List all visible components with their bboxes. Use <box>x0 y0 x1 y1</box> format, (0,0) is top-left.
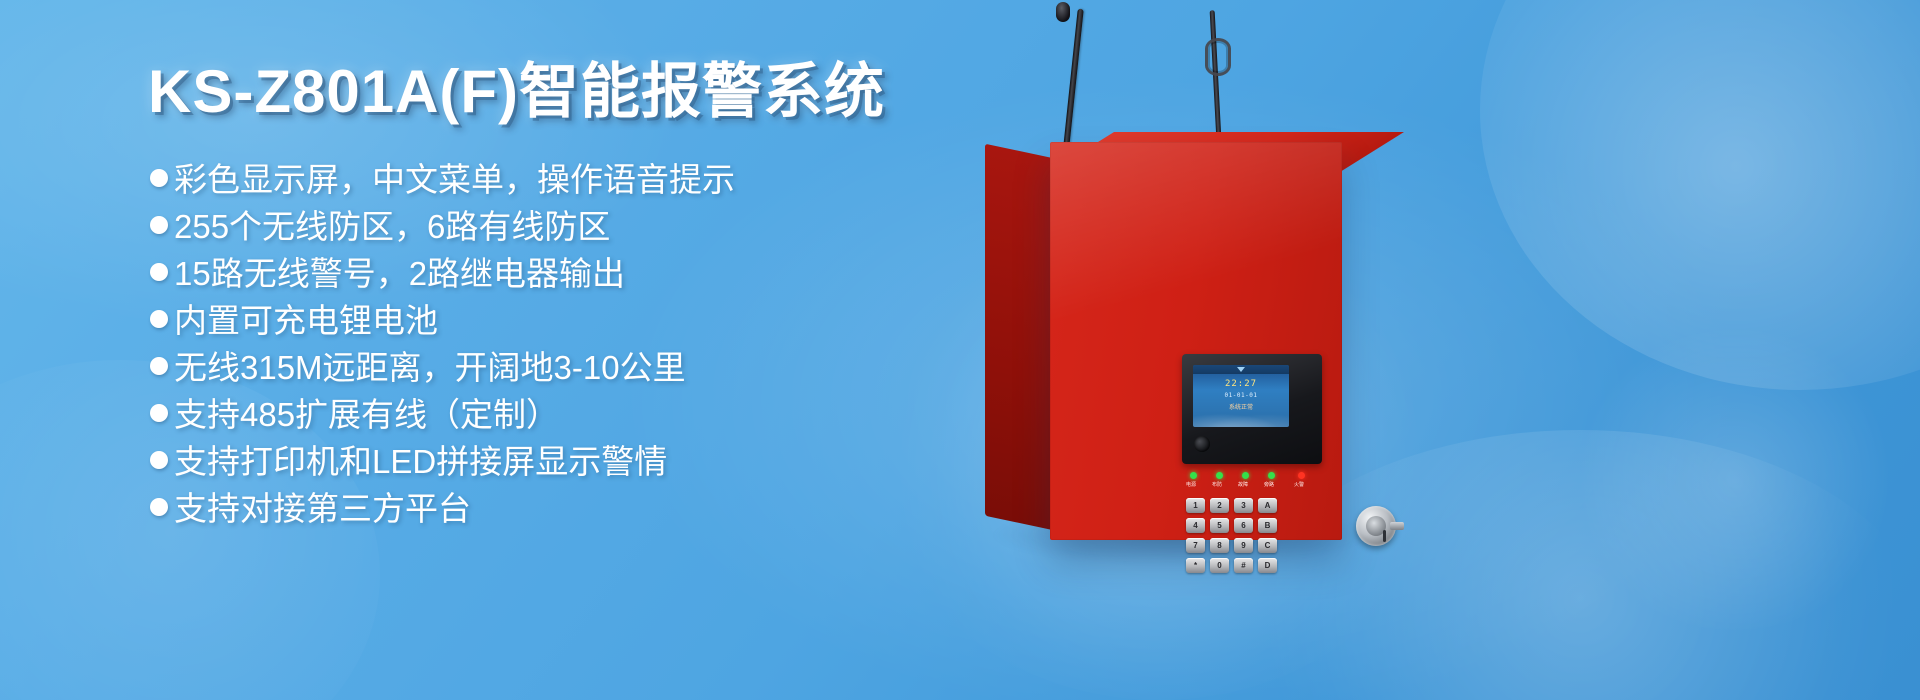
led-fault-label: 故障 <box>1238 481 1248 488</box>
list-item: 支持打印机和LED拼接屏显示警情 <box>150 440 970 487</box>
feature-text: 彩色显示屏，中文菜单，操作语音提示 <box>174 158 735 202</box>
keypad-row: 1 2 3 A <box>1186 498 1316 513</box>
list-item: 内置可充电锂电池 <box>150 299 970 346</box>
key-6[interactable]: 6 <box>1234 518 1253 533</box>
lcd-date: 01-01-01 <box>1193 392 1289 399</box>
lock-keyhole-icon <box>1383 530 1386 542</box>
led-alarm-icon <box>1298 472 1305 479</box>
bullet-dot-icon <box>150 357 168 375</box>
led-bypass-icon <box>1268 472 1275 479</box>
feature-text: 255个无线防区，6路有线防区 <box>174 205 610 249</box>
feature-text: 支持485扩展有线（定制） <box>174 393 559 437</box>
feature-text: 支持对接第三方平台 <box>174 487 471 531</box>
key-9[interactable]: 9 <box>1234 538 1253 553</box>
list-item: 支持对接第三方平台 <box>150 487 970 534</box>
key-d[interactable]: D <box>1258 558 1277 573</box>
key-b[interactable]: B <box>1258 518 1277 533</box>
key-8[interactable]: 8 <box>1210 538 1229 553</box>
antenna-left-tip-icon <box>1056 2 1070 22</box>
key-7[interactable]: 7 <box>1186 538 1205 553</box>
feature-text: 15路无线警号，2路继电器输出 <box>174 252 625 296</box>
page-title: KS-Z801A(F)智能报警系统 <box>148 55 885 129</box>
led-arm-icon <box>1216 472 1223 479</box>
key-hash[interactable]: # <box>1234 558 1253 573</box>
lock-core <box>1366 516 1386 536</box>
bullet-dot-icon <box>150 310 168 328</box>
key-a[interactable]: A <box>1258 498 1277 513</box>
led-arm-label: 布防 <box>1212 481 1222 488</box>
led-bypass-label: 旁路 <box>1264 481 1274 488</box>
bullet-dot-icon <box>150 404 168 422</box>
key-star[interactable]: * <box>1186 558 1205 573</box>
bullet-dot-icon <box>150 216 168 234</box>
keypad-row: 7 8 9 C <box>1186 538 1316 553</box>
product-banner: KS-Z801A(F)智能报警系统 彩色显示屏，中文菜单，操作语音提示 255个… <box>0 0 1920 700</box>
keypad-row: * 0 # D <box>1186 558 1316 573</box>
key-0[interactable]: 0 <box>1210 558 1229 573</box>
signal-icon <box>1237 367 1245 372</box>
lcd-mode: 系统正常 <box>1193 402 1289 411</box>
lcd-time: 22:27 <box>1193 379 1289 389</box>
list-item: 15路无线警号，2路继电器输出 <box>150 252 970 299</box>
lcd-status-bar <box>1193 365 1289 374</box>
led-fault-icon <box>1242 472 1249 479</box>
bullet-dot-icon <box>150 263 168 281</box>
led-alarm-label: 火警 <box>1294 481 1304 488</box>
key-4[interactable]: 4 <box>1186 518 1205 533</box>
key-lock-icon[interactable] <box>1356 506 1396 546</box>
keypad-row: 4 5 6 B <box>1186 518 1316 533</box>
lcd-bezel: 22:27 01-01-01 系统正常 <box>1182 354 1322 464</box>
key-3[interactable]: 3 <box>1234 498 1253 513</box>
list-item: 彩色显示屏，中文菜单，操作语音提示 <box>150 158 970 205</box>
panel-front-face: 22:27 01-01-01 系统正常 电源 布防 故障 旁路 火警 <box>1050 142 1342 540</box>
bullet-dot-icon <box>150 498 168 516</box>
feature-text: 支持打印机和LED拼接屏显示警情 <box>174 440 667 484</box>
led-power-icon <box>1190 472 1197 479</box>
lcd-wallpaper <box>1193 411 1289 427</box>
banner-text-column: KS-Z801A(F)智能报警系统 彩色显示屏，中文菜单，操作语音提示 255个… <box>0 0 980 700</box>
feature-text: 无线315M远距离，开阔地3-10公里 <box>174 346 686 390</box>
key-5[interactable]: 5 <box>1210 518 1229 533</box>
list-item: 255个无线防区，6路有线防区 <box>150 205 970 252</box>
lock-tab <box>1390 522 1404 530</box>
list-item: 无线315M远距离，开阔地3-10公里 <box>150 346 970 393</box>
indicator-led-row: 电源 布防 故障 旁路 火警 <box>1186 472 1320 492</box>
feature-text: 内置可充电锂电池 <box>174 299 438 343</box>
key-1[interactable]: 1 <box>1186 498 1205 513</box>
antenna-coil-icon <box>1205 38 1231 76</box>
lcd-screen: 22:27 01-01-01 系统正常 <box>1193 365 1289 427</box>
bullet-dot-icon <box>150 451 168 469</box>
led-power-label: 电源 <box>1186 481 1196 488</box>
key-c[interactable]: C <box>1258 538 1277 553</box>
key-2[interactable]: 2 <box>1210 498 1229 513</box>
speaker-grille-icon <box>1194 436 1210 452</box>
feature-list: 彩色显示屏，中文菜单，操作语音提示 255个无线防区，6路有线防区 15路无线警… <box>150 158 970 534</box>
list-item: 支持485扩展有线（定制） <box>150 393 970 440</box>
alarm-control-panel-image: 22:27 01-01-01 系统正常 电源 布防 故障 旁路 火警 <box>950 0 1920 700</box>
keypad[interactable]: 1 2 3 A 4 5 6 B 7 8 9 C * <box>1186 498 1316 578</box>
bullet-dot-icon <box>150 169 168 187</box>
